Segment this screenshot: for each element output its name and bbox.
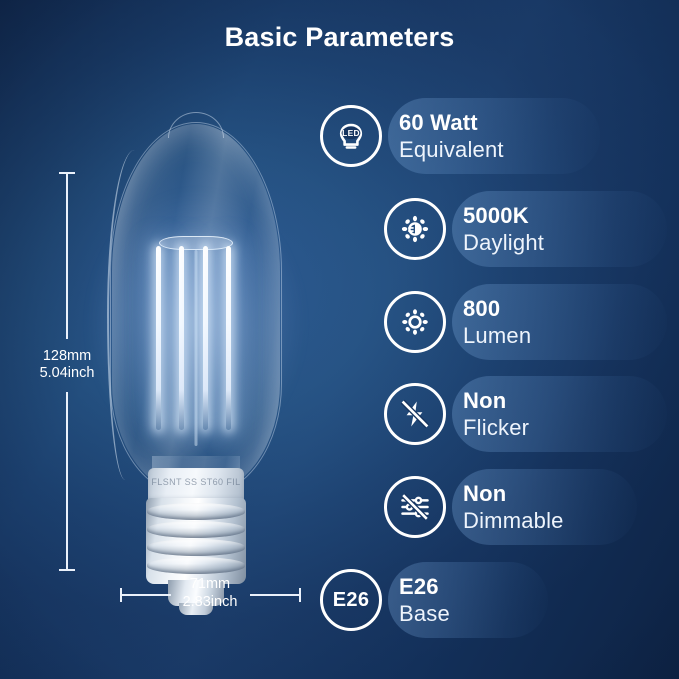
spec-text: Non Flicker xyxy=(463,388,529,441)
spec-value: Non xyxy=(463,481,564,507)
spec-label: Lumen xyxy=(463,322,531,349)
bulb-neck-print: FLSNT SS ST60 FIL xyxy=(148,477,244,487)
bulb-tip xyxy=(168,112,224,138)
no-flicker-icon xyxy=(384,383,446,445)
led-filament xyxy=(226,246,231,430)
e26-icon-label: E26 xyxy=(333,589,370,612)
color-temp-icon xyxy=(384,198,446,260)
led-filament xyxy=(179,246,184,430)
spec-text: 5000K Daylight xyxy=(463,203,544,256)
spec-label: Flicker xyxy=(463,414,529,441)
bulb-neck: FLSNT SS ST60 FIL xyxy=(148,468,244,502)
screw-thread xyxy=(147,539,245,556)
spec-text: 800 Lumen xyxy=(463,296,531,349)
filament-bridge xyxy=(159,236,233,250)
spec-row-dimmable[interactable]: Non Dimmable xyxy=(384,476,564,538)
spec-row-color-temperature[interactable]: 5000K Daylight xyxy=(384,198,544,260)
filament-stem xyxy=(195,250,198,446)
led-filament xyxy=(203,246,208,430)
spec-label: Daylight xyxy=(463,229,544,256)
spec-row-lumens[interactable]: 800 Lumen xyxy=(384,291,531,353)
screw-thread xyxy=(147,521,245,538)
spec-value: 5000K xyxy=(463,203,544,229)
spec-value: E26 xyxy=(399,574,450,600)
spec-row-flicker[interactable]: Non Flicker xyxy=(384,383,529,445)
spec-row-wattage[interactable]: LED 60 Watt Equivalent xyxy=(320,105,504,167)
spec-text: Non Dimmable xyxy=(463,481,564,534)
spec-row-base[interactable]: E26 E26 Base xyxy=(320,569,450,631)
light-bulb-image: FLSNT SS ST60 FIL xyxy=(86,100,306,590)
width-dimension-label: 71mm 2.83inch xyxy=(120,576,300,611)
spec-value: 60 Watt xyxy=(399,110,504,136)
bulb-screw-base xyxy=(146,498,246,584)
led-filament xyxy=(156,246,161,430)
screw-thread xyxy=(147,503,245,520)
spec-text: E26 Base xyxy=(399,574,450,627)
width-inch: 2.83inch xyxy=(120,594,300,611)
spec-value: Non xyxy=(463,388,529,414)
brightness-sun-icon xyxy=(384,291,446,353)
spec-label: Dimmable xyxy=(463,507,564,534)
product-infographic: Basic Parameters FLSNT SS ST60 FIL xyxy=(0,0,679,679)
e26-base-icon: E26 xyxy=(320,569,382,631)
bulb-glass-highlight xyxy=(107,150,153,480)
spec-label: Base xyxy=(399,600,450,627)
height-inch: 5.04inch xyxy=(0,365,134,382)
spec-text: 60 Watt Equivalent xyxy=(399,110,504,163)
spec-label: Equivalent xyxy=(399,136,504,163)
page-title: Basic Parameters xyxy=(0,22,679,53)
screw-thread xyxy=(147,557,245,574)
spec-value: 800 xyxy=(463,296,531,322)
width-mm: 71mm xyxy=(120,576,300,593)
height-dimension-label: 128mm 5.04inch xyxy=(0,348,134,382)
non-dimmable-icon xyxy=(384,476,446,538)
led-bulb-icon: LED xyxy=(320,105,382,167)
svg-text:LED: LED xyxy=(342,128,360,138)
height-mm: 128mm xyxy=(0,348,134,365)
